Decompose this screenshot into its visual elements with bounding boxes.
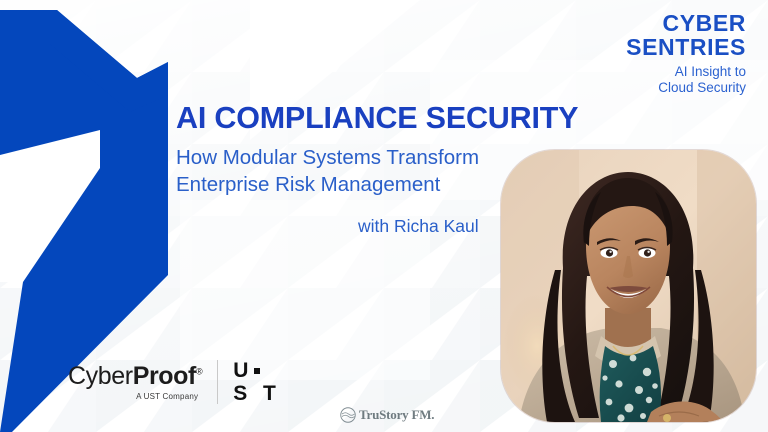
cyberproof-word-light: Cyber xyxy=(68,362,133,390)
episode-subhead: How Modular Systems Transform Enterprise… xyxy=(176,144,506,198)
registered-trademark-icon: ® xyxy=(196,367,202,377)
episode-subhead-line2: Enterprise Risk Management xyxy=(176,173,440,196)
episode-title-block: AI COMPLIANCE SECURITY How Modular Syste… xyxy=(176,103,616,237)
series-branding: CYBER SENTRIES AI Insight to Cloud Secur… xyxy=(626,12,746,97)
ust-letter-u: U xyxy=(233,359,253,382)
cyberproof-tagline: A UST Company xyxy=(68,393,202,401)
cyberproof-word-bold: Proof xyxy=(133,362,196,390)
ust-logo-row1: U xyxy=(233,359,281,383)
trustory-fm-logo: TruStory FM. xyxy=(340,407,434,423)
cyberproof-wordmark: CyberProof® xyxy=(68,364,202,389)
ust-logo: U S T xyxy=(233,359,281,406)
trustory-fm-wordmark: TruStory FM. xyxy=(359,407,434,423)
podcast-cover-canvas: CYBER SENTRIES AI Insight to Cloud Secur… xyxy=(0,0,768,432)
guest-credit: with Richa Kaul xyxy=(176,216,616,237)
trustory-wave-circle-icon xyxy=(340,407,356,423)
series-tagline-line1: AI Insight to xyxy=(626,64,746,80)
series-tagline-line2: Cloud Security xyxy=(626,80,746,96)
ust-square-dot-icon xyxy=(254,368,260,374)
sponsor-logo-row: CyberProof® A UST Company U S T xyxy=(68,359,281,406)
series-name-line1: CYBER xyxy=(626,12,746,35)
series-name-line2: SENTRIES xyxy=(626,36,746,59)
episode-subhead-line1: How Modular Systems Transform xyxy=(176,146,479,169)
episode-headline: AI COMPLIANCE SECURITY xyxy=(176,103,616,135)
cyberproof-logo: CyberProof® A UST Company xyxy=(68,364,202,401)
logo-divider xyxy=(217,360,218,404)
ust-logo-row2: S T xyxy=(233,382,281,406)
